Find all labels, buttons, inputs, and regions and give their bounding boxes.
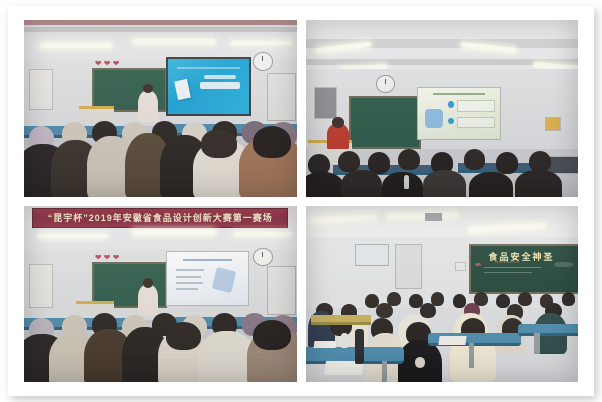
chalkboard [349,96,421,149]
slide-title-block [200,82,239,89]
slide-graphic [212,267,236,293]
light-fixture [234,232,291,236]
water-bottle [341,333,348,349]
slide-line [176,282,203,284]
audience-head [253,320,291,350]
slide-bullet-1 [448,101,455,108]
desk-leg [534,333,539,354]
presenter-head [332,117,343,128]
thermos-bottle [355,329,365,364]
banner-text: “昆宇杯”2019年安徽省食品设计创新大赛第一赛场 [48,211,273,224]
paper-sheet [313,341,336,348]
wall-decoration: ❤ ❤ ❤ [95,253,120,262]
chalkboard-script: ~~~~~~~ [495,260,520,266]
wall-decoration: ❤ ❤ ❤ [95,59,120,68]
desk-leg [382,361,387,382]
jacket-badge [415,357,426,368]
slide-heading-rule [183,259,232,261]
wall-clock [253,52,273,71]
classroom-door [267,73,296,121]
student-desk [311,315,371,325]
wall-cabinet [29,69,53,110]
audience-head [398,149,420,170]
slide-graphic [425,109,443,128]
audience-person [469,172,513,197]
audience-person [382,172,423,197]
slide-heading [177,67,239,69]
slide-text-block-2 [457,117,496,129]
wall-box [545,117,561,131]
desk-leg [469,343,474,368]
audience-person [341,170,382,196]
light-fixture [40,43,111,48]
photo-lecture-hall-blue-screen[interactable]: ❤ ❤ ❤ [24,20,297,197]
audience-head [376,303,392,319]
projection-screen [166,57,252,116]
slide-text-block-1 [457,100,496,112]
audience-head [496,152,518,173]
audience-head [518,292,532,306]
photo-grid: ❤ ❤ ❤ [8,6,594,396]
slide-dots [204,75,237,78]
light-fixture [38,234,109,239]
slide-line [176,288,197,290]
audience-head [496,294,510,308]
audience-head [201,129,236,157]
classroom-door [267,266,296,316]
ceiling-beam-2 [24,20,297,25]
audience-head [166,322,201,350]
light-fixture [133,39,215,44]
ceiling-beam [24,27,297,32]
audience-head [562,292,576,306]
slide-bullet-2 [448,118,455,125]
chalkboard: 食品安全神圣 ~~~~~~~ [469,244,578,294]
slide-line [176,276,201,278]
light-fixture [133,230,215,235]
chalk-line [484,272,532,273]
audience-head [253,126,291,158]
ceiling-speaker [425,213,441,222]
wall-switch [455,262,465,271]
chalk-line [484,267,541,268]
wall-window [355,244,390,265]
classroom-door [395,244,422,288]
audience-person [423,170,467,196]
light-fixture [231,41,291,45]
water-bottle [404,175,409,189]
chalk-flower [475,263,480,267]
presenter-head [143,278,153,288]
presenter [138,91,157,123]
photo-audience-side-view[interactable]: 食品安全神圣 ~~~~~~~ [306,206,579,383]
wall-clock [253,248,273,266]
audience-person [515,170,561,196]
audience-person [306,172,344,197]
slide-heading-rule [433,93,485,95]
wall-clock [376,75,394,93]
presenter-head [143,84,153,94]
competition-banner: “昆宇杯”2019年安徽省食品设计创新大赛第一赛场 [32,208,288,228]
audience-head [529,151,551,172]
student-desk [518,324,578,336]
photo-collage-card: ❤ ❤ ❤ [8,6,594,396]
photo-banner-competition-venue[interactable]: “昆宇杯”2019年安徽省食品设计创新大赛第一赛场 ❤ ❤ ❤ [24,206,297,383]
presenter [138,285,157,315]
paper-sheet [438,336,466,345]
audience-head [338,151,360,172]
chalk-cloud [554,262,574,267]
wall-cabinet [29,264,53,308]
projection-screen [417,87,501,140]
audience-head [464,149,486,170]
photo-presenter-red-jacket[interactable] [306,20,579,197]
audience-head [368,152,390,173]
presenter [327,124,349,149]
slide-line [176,269,204,271]
podium [79,106,114,121]
projection-screen [166,251,250,306]
wall-panel [314,87,338,119]
slide-card-icon [174,79,191,100]
